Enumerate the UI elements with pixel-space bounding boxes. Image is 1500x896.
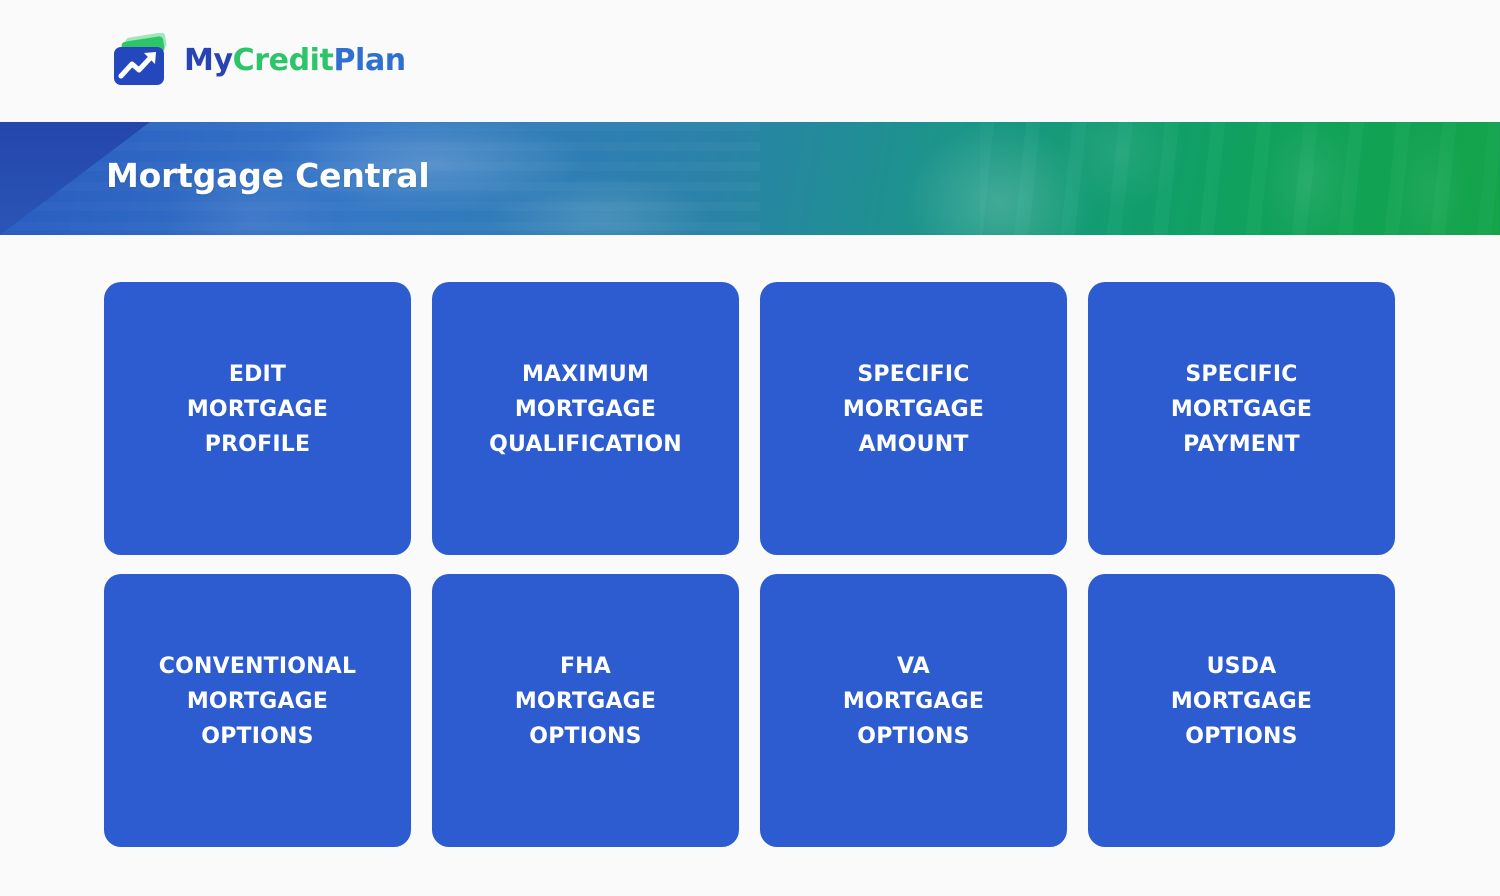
tile-label: Maximum Mortgage Qualification <box>489 357 682 462</box>
tile-label: Conventional Mortgage Options <box>159 649 356 754</box>
main-content: Edit Mortgage Profile Maximum Mortgage Q… <box>0 235 1500 847</box>
tile-specific-mortgage-payment[interactable]: Specific Mortgage Payment <box>1088 282 1395 555</box>
tile-maximum-mortgage-qualification[interactable]: Maximum Mortgage Qualification <box>432 282 739 555</box>
tile-label: USDA Mortgage Options <box>1171 649 1312 754</box>
tile-label: VA Mortgage Options <box>843 649 984 754</box>
brand-wordmark: MyCreditPlan <box>184 46 406 76</box>
site-header: MyCreditPlan <box>0 0 1500 122</box>
hero-banner: Mortgage Central <box>0 122 1500 235</box>
tile-edit-mortgage-profile[interactable]: Edit Mortgage Profile <box>104 282 411 555</box>
tile-label: Edit Mortgage Profile <box>187 357 328 462</box>
mortgage-tile-grid: Edit Mortgage Profile Maximum Mortgage Q… <box>104 282 1396 847</box>
brand-wordmark-credit: Credit <box>233 43 334 78</box>
brand-logo-link[interactable]: MyCreditPlan <box>110 33 406 89</box>
tile-label: Specific Mortgage Payment <box>1171 357 1312 462</box>
brand-wordmark-plan: Plan <box>333 43 405 78</box>
wallet-chart-icon <box>110 33 172 89</box>
tile-label: FHA Mortgage Options <box>515 649 656 754</box>
tile-usda-mortgage-options[interactable]: USDA Mortgage Options <box>1088 574 1395 847</box>
tile-va-mortgage-options[interactable]: VA Mortgage Options <box>760 574 1067 847</box>
tile-specific-mortgage-amount[interactable]: Specific Mortgage Amount <box>760 282 1067 555</box>
page-title: Mortgage Central <box>106 158 429 194</box>
tile-fha-mortgage-options[interactable]: FHA Mortgage Options <box>432 574 739 847</box>
tile-conventional-mortgage-options[interactable]: Conventional Mortgage Options <box>104 574 411 847</box>
brand-wordmark-my: My <box>184 43 233 78</box>
tile-label: Specific Mortgage Amount <box>843 357 984 462</box>
